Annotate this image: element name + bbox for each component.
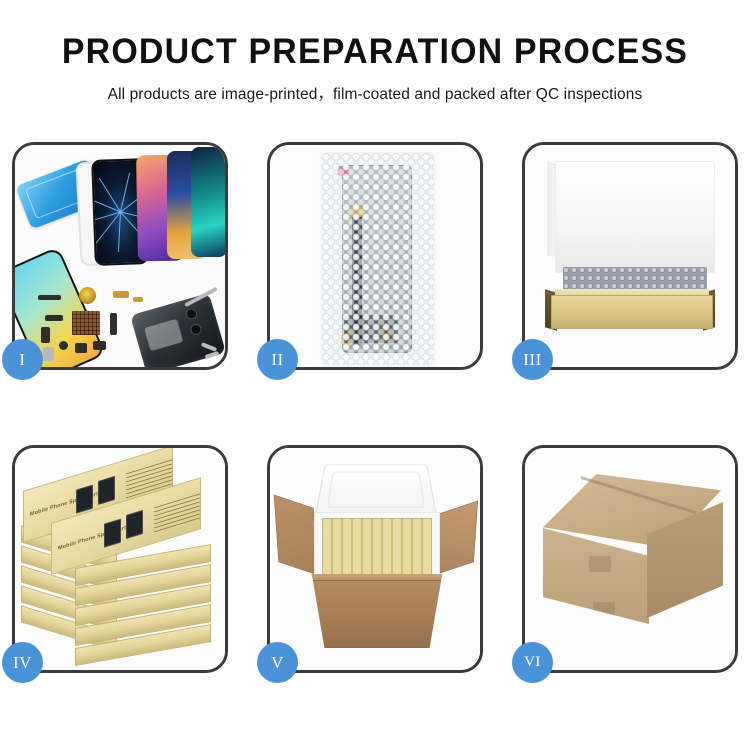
- step-badge-4: IV: [2, 642, 43, 683]
- box-artwork-screen-1: [76, 485, 93, 514]
- bubble-wrap-bag: [322, 153, 434, 365]
- step-panel-5: V: [267, 445, 483, 673]
- step-image-6: [525, 448, 735, 670]
- step-panel-1: I: [12, 142, 228, 370]
- spare-part-bar: [38, 295, 61, 300]
- step-badge-5: V: [257, 642, 298, 683]
- box-artwork-screen-2: [98, 476, 115, 505]
- white-foam-lid: [555, 161, 715, 273]
- step-badge-1: I: [2, 339, 43, 380]
- carton-handle-tab-upper: [589, 556, 611, 572]
- spare-part-flex-1: [45, 315, 63, 321]
- step-badge-6: VI: [512, 642, 553, 683]
- gold-box-stack: Mobile Phone Spare Parts Mobile Phone Sp…: [15, 448, 225, 670]
- gold-inner-box: [551, 295, 713, 329]
- spare-part-camera: [75, 343, 87, 353]
- carton-handle-tab-lower: [593, 602, 615, 616]
- step-panel-4: Mobile Phone Spare Parts Mobile Phone Sp…: [12, 445, 228, 673]
- step-badge-2: II: [257, 339, 298, 380]
- header: PRODUCT PREPARATION PROCESS All products…: [0, 0, 750, 104]
- step-image-1: [15, 145, 225, 367]
- page-title: PRODUCT PREPARATION PROCESS: [11, 34, 739, 69]
- spare-part-bracket: [113, 291, 129, 298]
- spare-part-screw-set: [133, 297, 143, 302]
- gold-boxes-upright: [322, 518, 432, 576]
- phone-teal: [191, 147, 225, 257]
- product-preparation-infographic: PRODUCT PREPARATION PROCESS All products…: [0, 0, 750, 750]
- page-subtitle: All products are image-printed，film-coat…: [0, 82, 750, 104]
- bubble-texture-overlay: [322, 153, 434, 365]
- steps-grid: I II: [12, 142, 738, 682]
- step-image-3: [525, 145, 735, 367]
- spare-part-flex-3: [110, 313, 117, 335]
- spare-part-button: [59, 341, 68, 350]
- box-artwork-screen-3: [104, 519, 121, 548]
- carton-flap-left: [274, 494, 319, 575]
- carton-body: [304, 580, 450, 648]
- carton-flap-right: [434, 501, 478, 576]
- spare-part-coil: [79, 287, 96, 304]
- spare-part-flex-2: [41, 327, 50, 343]
- step-image-5: [270, 448, 480, 670]
- spare-part-sim-tray: [43, 347, 54, 361]
- step-panel-6: VI: [522, 445, 738, 673]
- box-artwork-text-lines-2: [154, 492, 200, 532]
- box-artwork-screen-4: [126, 510, 143, 539]
- spare-part-speaker: [93, 341, 106, 350]
- step-badge-3: III: [512, 339, 553, 380]
- step-image-4: Mobile Phone Spare Parts Mobile Phone Sp…: [15, 448, 225, 670]
- foam-box-lid: [314, 464, 437, 518]
- step-panel-2: II: [267, 142, 483, 370]
- step-image-2: [270, 145, 480, 367]
- spare-part-chip-grid: [72, 311, 100, 335]
- carton-left-face: [543, 528, 649, 624]
- step-panel-3: III: [522, 142, 738, 370]
